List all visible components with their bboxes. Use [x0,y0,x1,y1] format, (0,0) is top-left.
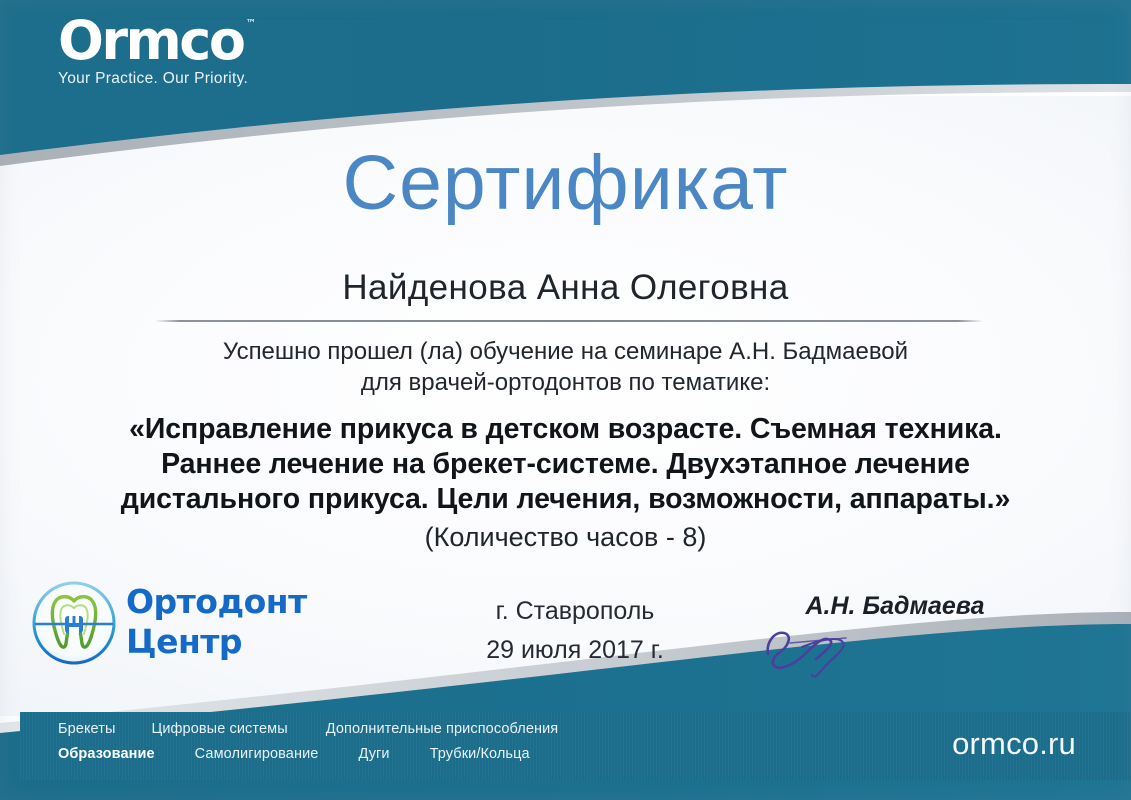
city-label: г. Ставрополь [405,592,745,631]
oc-line-1: Ортодонт [126,582,307,622]
tooth-braces-emblem-icon [28,578,120,670]
footer-link-additional-devices[interactable]: Дополнительные приспособления [326,721,559,737]
oc-line-2: Центр [126,622,307,662]
footer-link-self-ligation[interactable]: Самолигирование [195,746,319,762]
ormco-tagline: Your Practice. Our Priority. [58,70,248,88]
ormco-wordmark: Ormco™ [58,14,243,68]
footer-link-digital-systems[interactable]: Цифровые системы [152,721,288,737]
ortodont-centr-wordmark: Ортодонт Центр [126,582,307,662]
ortodont-centr-logo: Ортодонт Центр [28,578,308,672]
footer-link-arches[interactable]: Дуги [358,746,389,762]
intro-line-2: для врачей-ортодонтов по тематике: [0,367,1131,398]
hours-count: (Количество часов - 8) [0,522,1131,553]
topic-line-3: дистального прикуса. Цели лечения, возмо… [0,482,1131,517]
topic-text: «Исправление прикуса в детском возрасте.… [0,412,1131,517]
footer-link-education[interactable]: Образование [58,746,155,762]
page-title: Сертификат [0,139,1131,228]
footer-nav: Брекеты Цифровые системы Дополнительные … [58,721,558,771]
intro-line-1: Успешно прошел (ла) обучение на семинаре… [0,336,1131,367]
topic-line-1: «Исправление прикуса в детском возрасте.… [0,412,1131,447]
topic-line-2: Раннее лечение на брекет-системе. Двухэт… [0,447,1131,482]
intro-text: Успешно прошел (ла) обучение на семинаре… [0,336,1131,398]
signer-name: А.Н. Бадмаева [745,592,1045,621]
certificate-content: Сертификат Найденова Анна Олеговна Успеш… [0,0,1131,800]
footer-nav-row-1: Брекеты Цифровые системы Дополнительные … [58,721,558,746]
footer-link-brackets[interactable]: Брекеты [58,721,116,737]
ormco-logo: Ormco™ Your Practice. Our Priority. [58,14,248,88]
ormco-name: Ormco [58,9,243,72]
date-label: 29 июля 2017 г. [405,631,745,670]
divider-rule [155,320,983,322]
certificate-page: Ormco™ Your Practice. Our Priority. [0,0,1131,800]
trademark-icon: ™ [245,18,256,29]
place-and-date: г. Ставрополь 29 июля 2017 г. [405,592,745,670]
footer-nav-row-2: Образование Самолигирование Дуги Трубки/… [58,746,558,771]
footer-bar: Брекеты Цифровые системы Дополнительные … [20,712,1131,780]
recipient-name: Найденова Анна Олеговна [0,268,1131,308]
footer-link-tubes-rings[interactable]: Трубки/Кольца [430,746,530,762]
footer-website-url[interactable]: ormco.ru [952,726,1076,762]
handwritten-signature-icon [760,620,890,680]
